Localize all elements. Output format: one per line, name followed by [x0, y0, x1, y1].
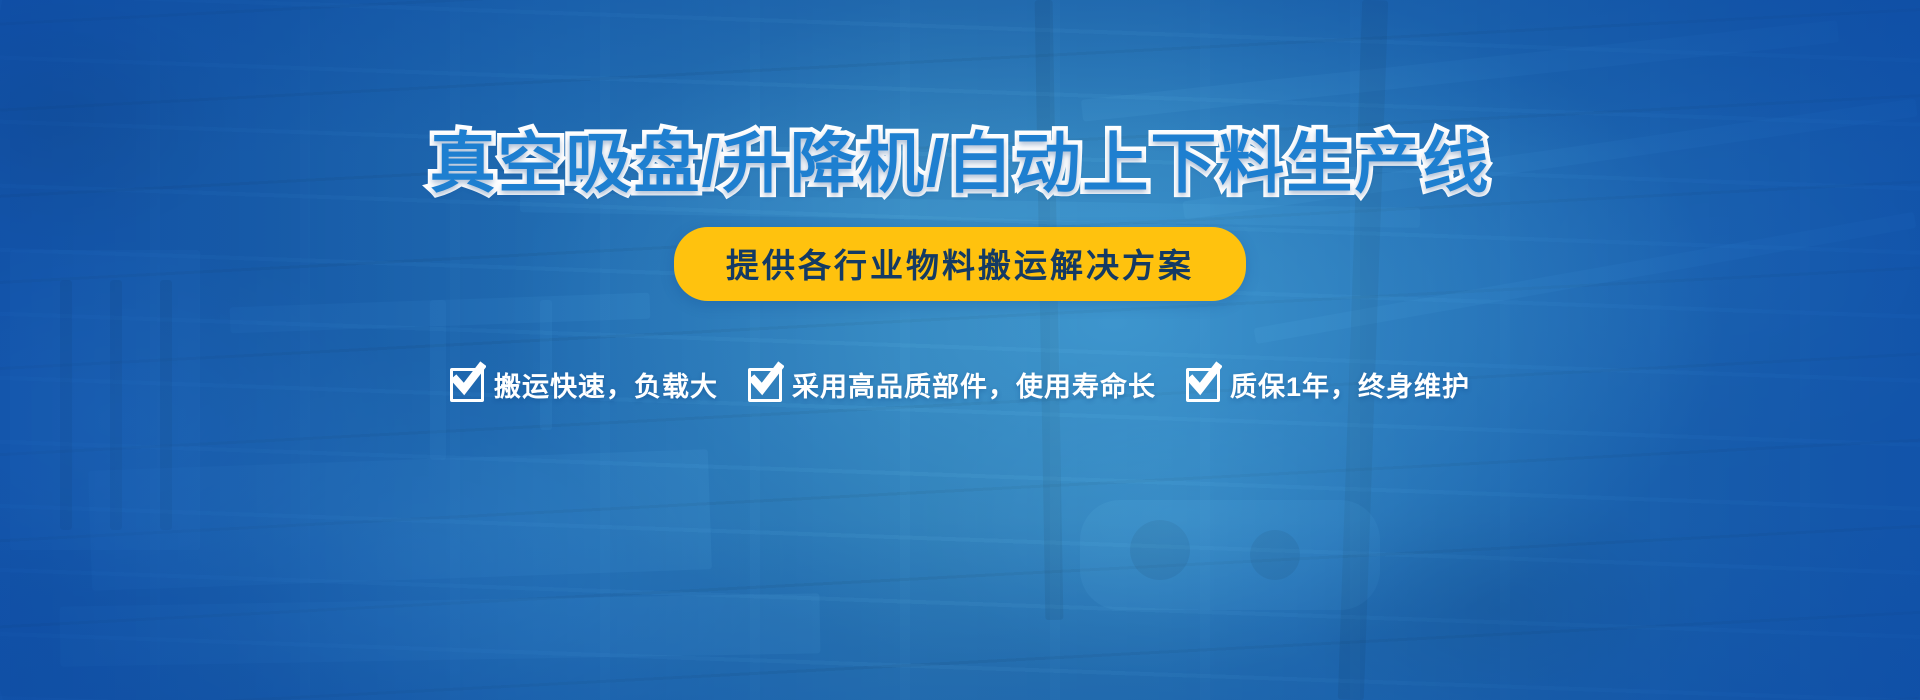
feature-label: 搬运快速，负载大 [494, 365, 718, 404]
banner-title: 真空吸盘/升降机/自动上下料生产线 [430, 128, 1491, 199]
check-icon [450, 368, 484, 402]
banner-content: 真空吸盘/升降机/自动上下料生产线 提供各行业物料搬运解决方案 搬运快速，负载大… [0, 0, 1920, 700]
check-icon [1186, 368, 1220, 402]
feature-item: 采用高品质部件，使用寿命长 [748, 365, 1156, 404]
check-icon [748, 368, 782, 402]
feature-list: 搬运快速，负载大 采用高品质部件，使用寿命长 质保1年，终身维护 [450, 365, 1470, 404]
feature-label: 质保1年，终身维护 [1230, 365, 1470, 404]
feature-item: 质保1年，终身维护 [1186, 365, 1470, 404]
banner-subtitle-pill: 提供各行业物料搬运解决方案 [674, 227, 1246, 301]
hero-banner: 真空吸盘/升降机/自动上下料生产线 提供各行业物料搬运解决方案 搬运快速，负载大… [0, 0, 1920, 700]
feature-item: 搬运快速，负载大 [450, 365, 718, 404]
feature-label: 采用高品质部件，使用寿命长 [792, 365, 1156, 404]
